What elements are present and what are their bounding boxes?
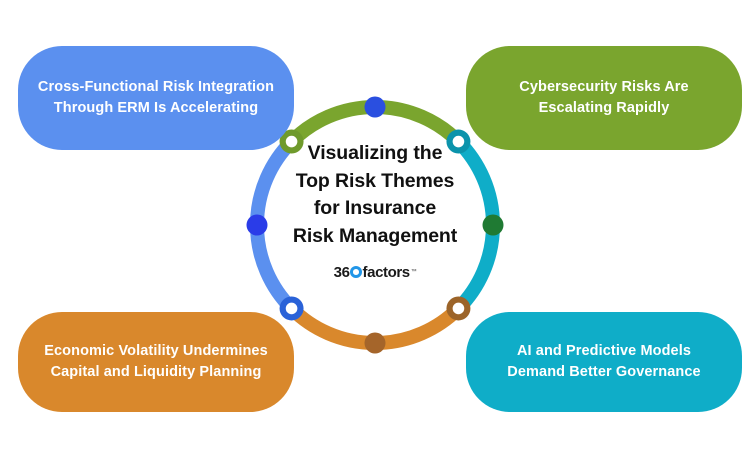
- card-br-line-2: Demand Better Governance: [507, 362, 700, 383]
- card-tl-line-1: Cross-Functional Risk Integration: [38, 77, 274, 98]
- card-economic-volatility[interactable]: Economic Volatility Undermines Capital a…: [18, 312, 294, 412]
- card-tr-text: Cybersecurity Risks Are Escalating Rapid…: [519, 77, 688, 119]
- card-br-line-1: AI and Predictive Models: [507, 341, 700, 362]
- joint-left: [247, 215, 268, 236]
- infographic-canvas: Cross-Functional Risk Integration Throug…: [0, 0, 750, 450]
- card-cybersecurity-risks[interactable]: Cybersecurity Risks Are Escalating Rapid…: [466, 46, 742, 150]
- card-tl-text: Cross-Functional Risk Integration Throug…: [38, 77, 274, 119]
- joint-right: [483, 215, 504, 236]
- card-cross-functional-risk-integration[interactable]: Cross-Functional Risk Integration Throug…: [18, 46, 294, 150]
- card-tr-line-1: Cybersecurity Risks Are: [519, 77, 688, 98]
- pin-hole-icon: [286, 303, 298, 315]
- joint-top: [365, 97, 386, 118]
- pin-hole-icon: [453, 136, 465, 148]
- card-bl-line-2: Capital and Liquidity Planning: [44, 362, 268, 383]
- card-bl-text: Economic Volatility Undermines Capital a…: [44, 341, 268, 383]
- joint-bottom: [365, 333, 386, 354]
- card-bl-line-1: Economic Volatility Undermines: [44, 341, 268, 362]
- pin-hole-icon: [453, 303, 465, 315]
- pin-hole-icon: [286, 136, 298, 148]
- card-ai-predictive-models[interactable]: AI and Predictive Models Demand Better G…: [466, 312, 742, 412]
- card-br-text: AI and Predictive Models Demand Better G…: [507, 341, 700, 383]
- card-tr-line-2: Escalating Rapidly: [519, 98, 688, 119]
- card-tl-line-2: Through ERM Is Accelerating: [38, 98, 274, 119]
